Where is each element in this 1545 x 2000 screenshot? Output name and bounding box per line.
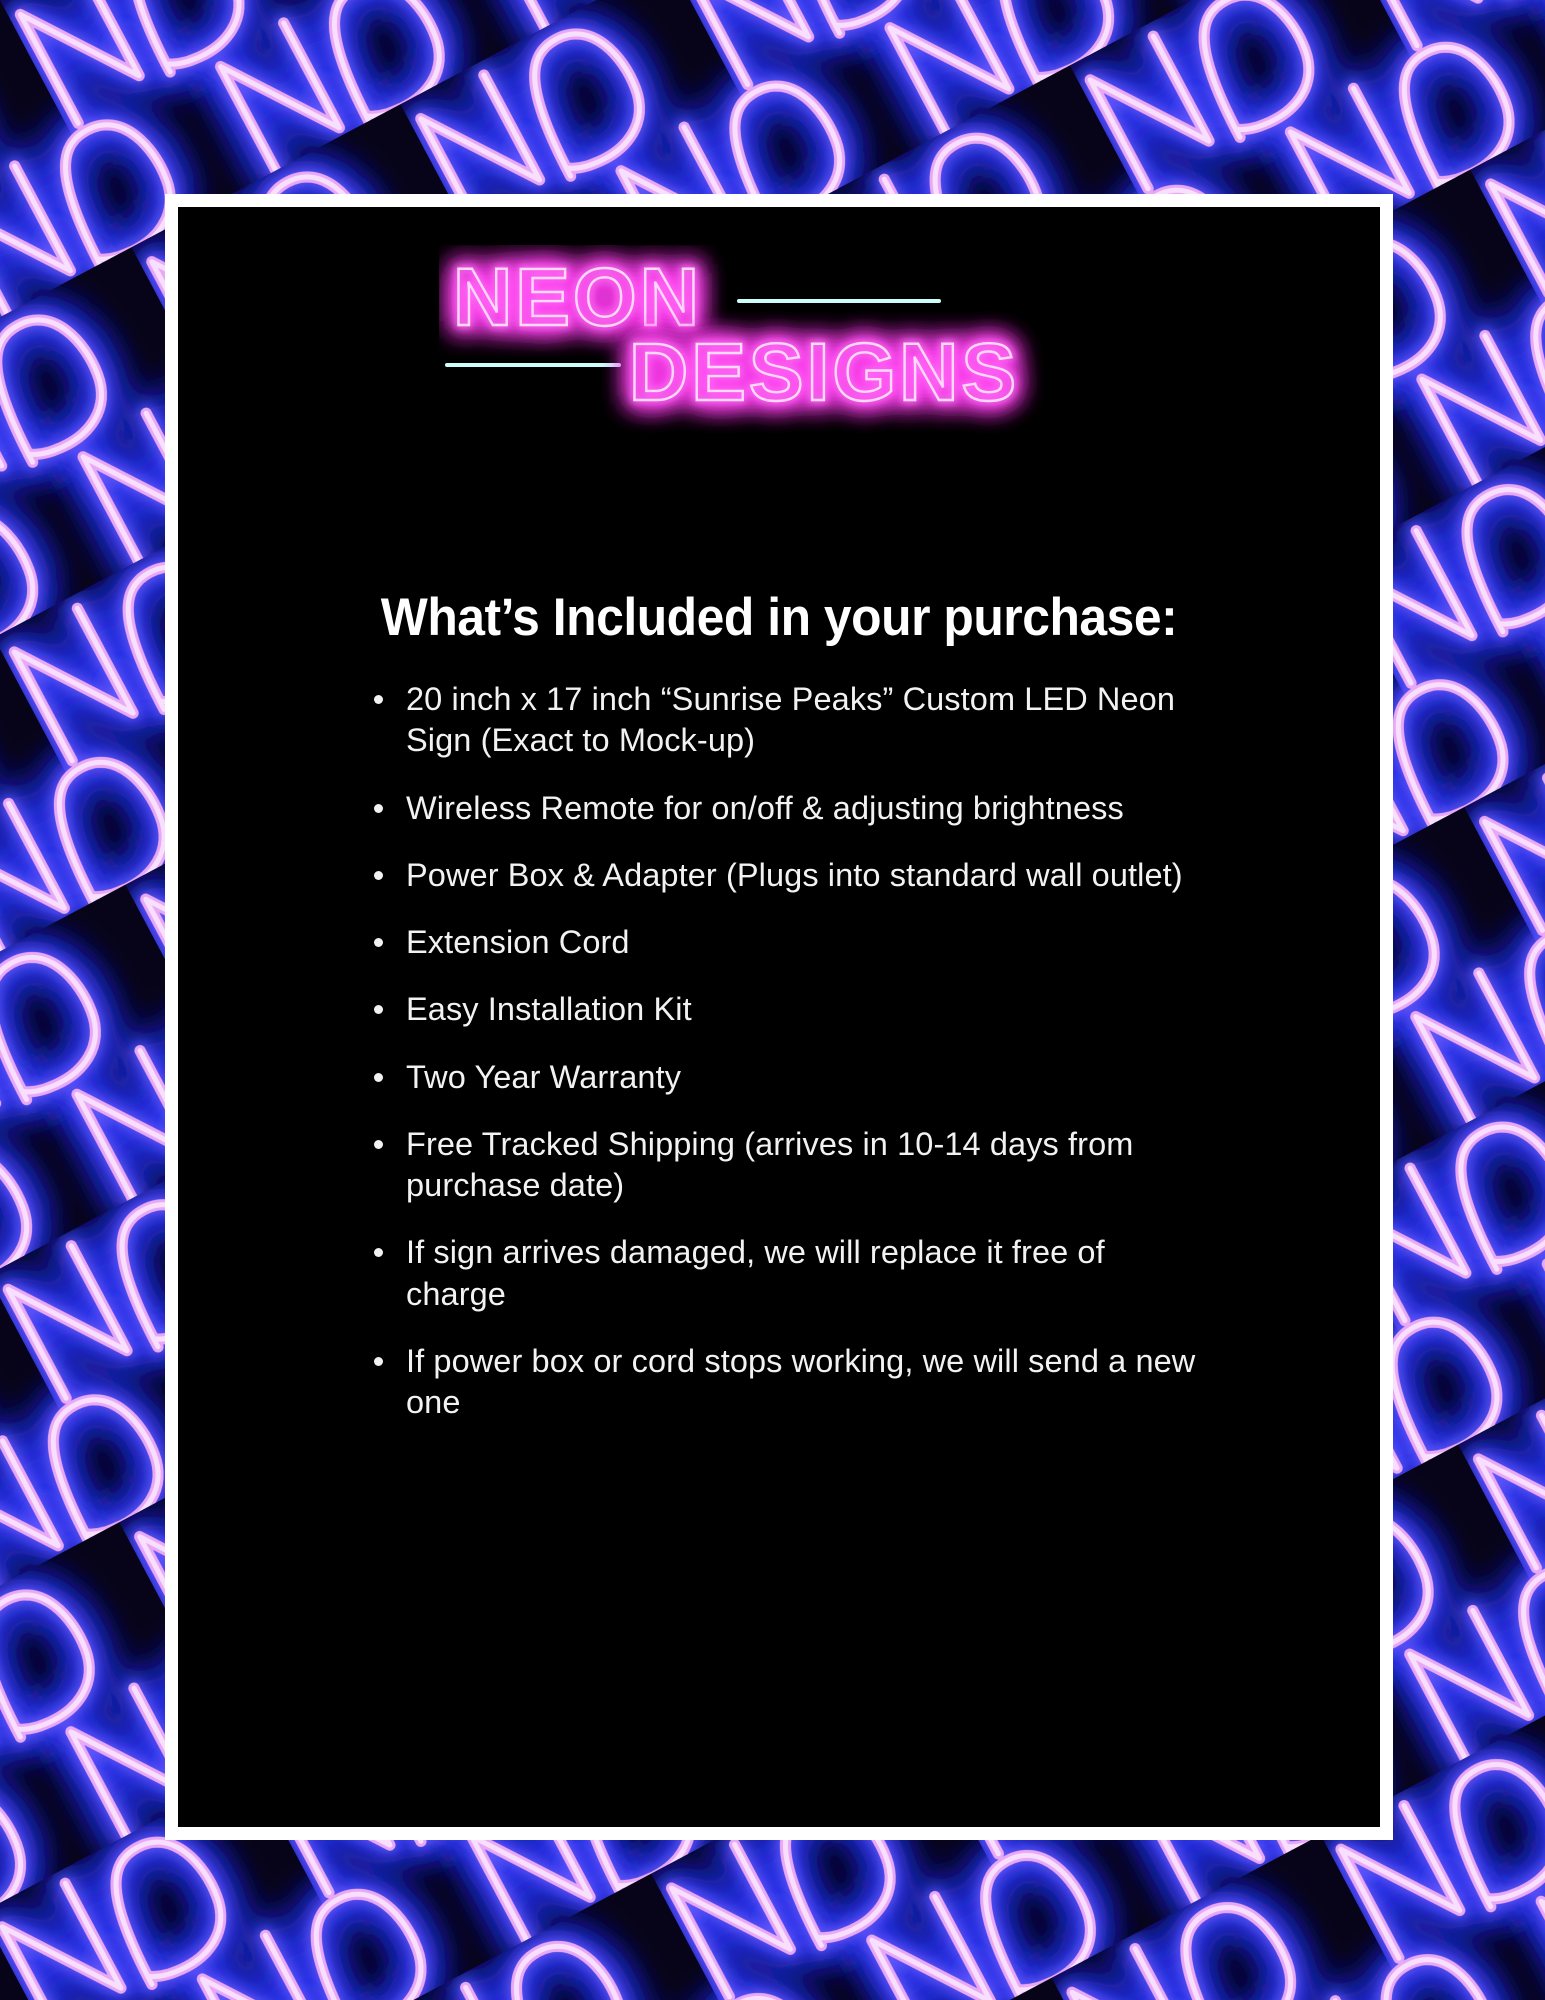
page-title: What’s Included in your purchase: xyxy=(214,587,1344,648)
neon-designs-logo-svg: NEON NEON NEON DESIG xyxy=(439,245,1119,445)
list-item: 20 inch x 17 inch “Sunrise Peaks” Custom… xyxy=(368,679,1208,762)
neon-designs-logo: NEON NEON NEON DESIG xyxy=(178,245,1380,455)
list-item: Extension Cord xyxy=(368,922,1208,963)
list-item: Wireless Remote for on/off & adjusting b… xyxy=(368,788,1208,829)
list-item: Free Tracked Shipping (arrives in 10-14 … xyxy=(368,1124,1208,1207)
logo-word-designs: DESIGNS DESIGNS DESIGNS xyxy=(629,327,1019,418)
list-item: If power box or cord stops working, we w… xyxy=(368,1341,1208,1424)
list-item: Two Year Warranty xyxy=(368,1057,1208,1098)
list-item: Easy Installation Kit xyxy=(368,989,1208,1030)
flyer-panel: NEON NEON NEON DESIG xyxy=(178,207,1380,1827)
list-item: Power Box & Adapter (Plugs into standard… xyxy=(368,855,1208,896)
included-items-list: 20 inch x 17 inch “Sunrise Peaks” Custom… xyxy=(368,679,1208,1449)
flyer-panel-border: NEON NEON NEON DESIG xyxy=(165,194,1393,1840)
svg-text:DESIGNS: DESIGNS xyxy=(629,327,1019,418)
list-item: If sign arrives damaged, we will replace… xyxy=(368,1232,1208,1315)
